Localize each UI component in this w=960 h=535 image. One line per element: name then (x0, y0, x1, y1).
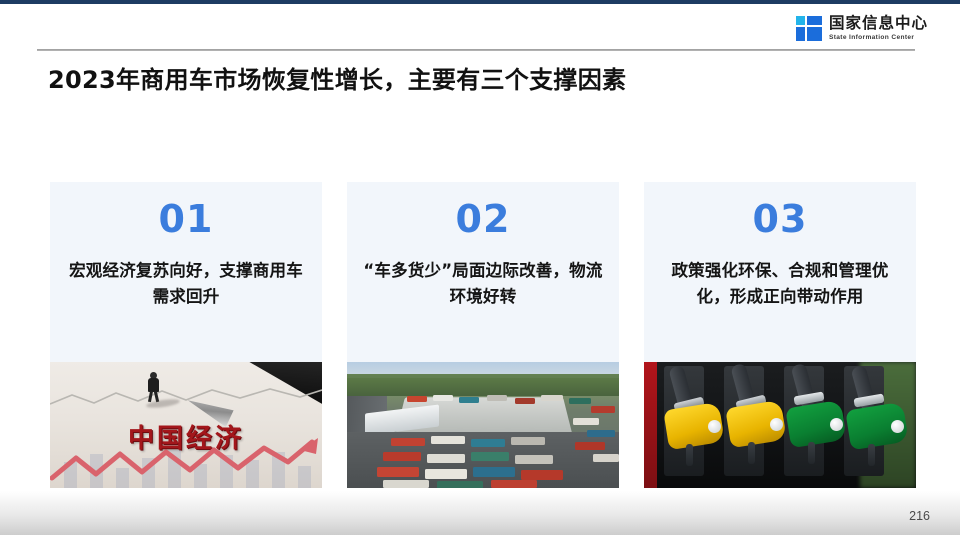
logo-name-en: State Information Center (829, 35, 928, 42)
page-title: 2023年商用车市场恢复性增长，主要有三个支撑因素 (48, 60, 626, 95)
treeline-region (347, 374, 619, 396)
card-number-02: 02 (347, 200, 619, 238)
card-03: 03 政策强化环保、合规和管理优化，形成正向带动作用 (644, 182, 916, 488)
organization-logo: 国家信息中心 State Information Center (796, 16, 928, 41)
card-number-01: 01 (50, 200, 322, 238)
support-factor-cards: 01 宏观经济复苏向好，支撑商用车需求回升 中国经济 (50, 182, 918, 488)
red-edge-panel (644, 362, 657, 488)
card-01: 01 宏观经济复苏向好，支撑商用车需求回升 中国经济 (50, 182, 322, 488)
page-number: 216 (909, 509, 930, 523)
card-photo-logistics-hub (347, 362, 619, 488)
card-text-01: 宏观经济复苏向好，支撑商用车需求回升 (50, 258, 322, 309)
header-divider (37, 49, 915, 51)
red-rising-arrow (50, 438, 322, 486)
card-text-02: “车多货少”局面边际改善，物流环境好转 (347, 258, 619, 309)
card-number-03: 03 (644, 200, 916, 238)
gray-trend-line (50, 386, 322, 410)
businessman-figurine (148, 372, 159, 402)
bottom-gradient (0, 491, 960, 535)
card-photo-china-economy: 中国经济 (50, 362, 322, 488)
slide: 国家信息中心 State Information Center 2023年商用车… (0, 0, 960, 535)
top-accent-band (0, 0, 960, 4)
logo-mark-icon (796, 16, 822, 41)
logo-name-cn: 国家信息中心 (829, 16, 928, 32)
card-02: 02 “车多货少”局面边际改善，物流环境好转 (347, 182, 619, 488)
card-text-03: 政策强化环保、合规和管理优化，形成正向带动作用 (644, 258, 916, 309)
card-photo-fuel-nozzles (644, 362, 916, 488)
logo-text: 国家信息中心 State Information Center (829, 16, 928, 41)
